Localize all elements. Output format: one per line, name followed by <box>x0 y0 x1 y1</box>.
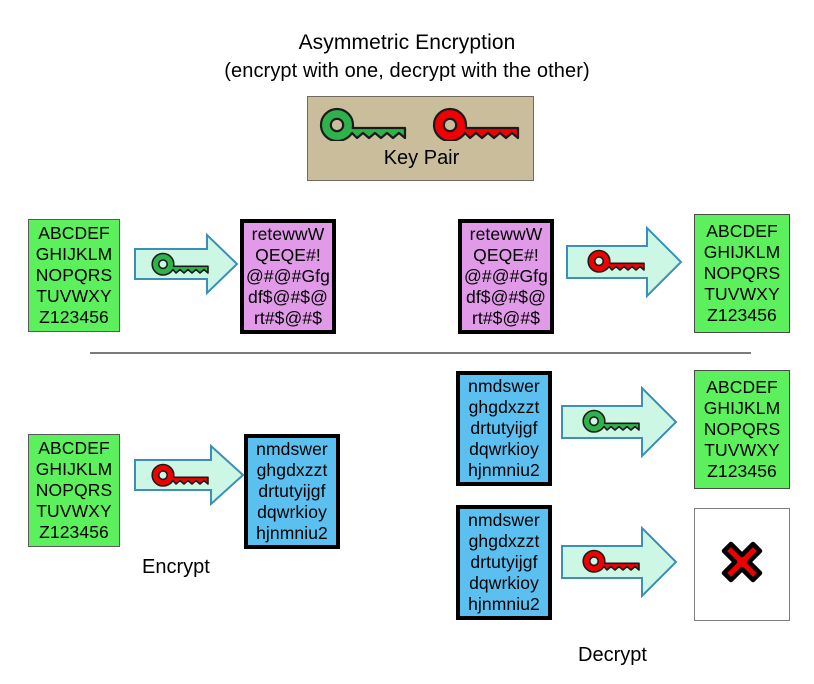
doc-line: df$@#$@ <box>466 287 546 308</box>
doc-line: drtutyijgf <box>470 418 537 439</box>
encrypt-arrow-red-key-bottom <box>133 444 245 506</box>
doc-line: ABCDEF <box>38 438 110 459</box>
doc-line: NOPQRS <box>36 265 112 286</box>
doc-line: TUVWXY <box>36 286 111 307</box>
doc-line: rt#$@#$ <box>472 308 540 329</box>
doc-line: ghgdxzzt <box>469 397 540 418</box>
green-key-icon <box>319 107 411 146</box>
doc-line: Z123456 <box>39 307 109 328</box>
doc-line: ABCDEF <box>706 377 778 398</box>
doc-line: df$@#$@ <box>248 287 328 308</box>
ciphertext-document-purple-left: retewwW QEQE#! @#@#Gfg df$@#$@ rt#$@#$ <box>240 219 336 334</box>
doc-line: @#@#Gfg <box>246 266 330 287</box>
title-line-primary: Asymmetric Encryption <box>0 28 814 57</box>
doc-line: QEQE#! <box>473 245 539 266</box>
doc-line: GHIJKLM <box>36 459 113 480</box>
decrypt-arrow-red-key-failure <box>560 526 678 598</box>
caption-decrypt: Decrypt <box>578 644 647 667</box>
plaintext-document-top-left: ABCDEF GHIJKLM NOPQRS TUVWXY Z123456 <box>28 219 120 332</box>
plaintext-document-bottom-left: ABCDEF GHIJKLM NOPQRS TUVWXY Z123456 <box>28 434 120 547</box>
doc-line: QEQE#! <box>255 245 321 266</box>
failed-decryption-document <box>694 508 790 621</box>
doc-line: nmdswer <box>468 510 540 531</box>
encrypt-arrow-green-key-top <box>133 233 239 295</box>
decrypt-arrow-red-key-top <box>565 226 683 298</box>
doc-line: Z123456 <box>707 305 777 326</box>
ciphertext-document-blue-left: nmdswer ghgdxzzt drtutyijgf dqwrkioy hjn… <box>244 434 340 549</box>
doc-line: hjnmniu2 <box>468 594 540 615</box>
plaintext-document-top-right: ABCDEF GHIJKLM NOPQRS TUVWXY Z123456 <box>694 214 790 333</box>
doc-line: ABCDEF <box>38 223 110 244</box>
doc-line: GHIJKLM <box>36 244 113 265</box>
doc-line: drtutyijgf <box>470 552 537 573</box>
ciphertext-document-blue-right-lower: nmdswer ghgdxzzt drtutyijgf dqwrkioy hjn… <box>456 505 552 620</box>
doc-line: ghgdxzzt <box>469 531 540 552</box>
doc-line: Z123456 <box>39 522 109 543</box>
doc-line: NOPQRS <box>704 419 780 440</box>
doc-line: ABCDEF <box>706 221 778 242</box>
doc-line: NOPQRS <box>704 263 780 284</box>
decrypt-arrow-green-key-bottom <box>560 386 678 458</box>
caption-encrypt: Encrypt <box>142 556 210 579</box>
doc-line: dqwrkioy <box>469 573 539 594</box>
doc-line: ghgdxzzt <box>257 460 328 481</box>
red-key-icon <box>432 107 524 146</box>
doc-line: Z123456 <box>707 461 777 482</box>
doc-line: TUVWXY <box>704 284 779 305</box>
doc-line: NOPQRS <box>36 480 112 501</box>
doc-line: rt#$@#$ <box>254 308 322 329</box>
title-line-secondary: (encrypt with one, decrypt with the othe… <box>0 57 814 86</box>
doc-line: GHIJKLM <box>704 242 781 263</box>
doc-line: retewwW <box>470 224 543 245</box>
doc-line: drtutyijgf <box>258 481 325 502</box>
doc-line: @#@#Gfg <box>464 266 548 287</box>
doc-line: hjnmniu2 <box>468 460 540 481</box>
failure-cross-icon <box>718 538 766 591</box>
doc-line: nmdswer <box>256 439 328 460</box>
ciphertext-document-purple-right: retewwW QEQE#! @#@#Gfg df$@#$@ rt#$@#$ <box>458 219 554 334</box>
doc-line: TUVWXY <box>704 440 779 461</box>
key-pair-panel: Key Pair <box>307 96 534 181</box>
key-pair-icons <box>308 107 535 146</box>
doc-line: dqwrkioy <box>469 439 539 460</box>
doc-line: TUVWXY <box>36 501 111 522</box>
ciphertext-document-blue-right-upper: nmdswer ghgdxzzt drtutyijgf dqwrkioy hjn… <box>456 371 552 486</box>
section-divider <box>90 352 751 354</box>
doc-line: retewwW <box>252 224 325 245</box>
doc-line: hjnmniu2 <box>256 523 328 544</box>
plaintext-document-bottom-right: ABCDEF GHIJKLM NOPQRS TUVWXY Z123456 <box>694 370 790 489</box>
doc-line: dqwrkioy <box>257 502 327 523</box>
key-pair-label: Key Pair <box>308 147 535 170</box>
page-title: Asymmetric Encryption (encrypt with one,… <box>0 28 814 86</box>
doc-line: GHIJKLM <box>704 398 781 419</box>
doc-line: nmdswer <box>468 376 540 397</box>
